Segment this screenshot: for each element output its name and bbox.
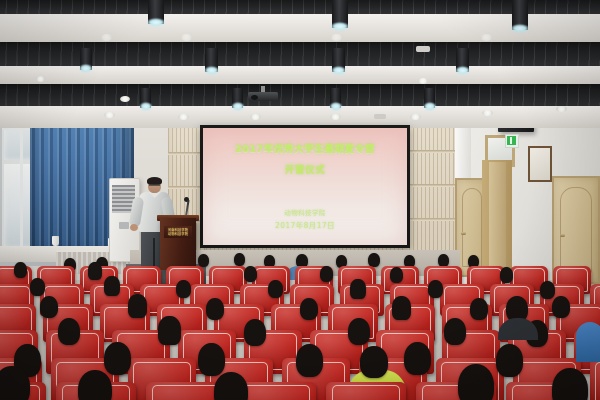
audience-row-1 <box>0 358 600 400</box>
ceiling-spotlight <box>424 88 435 108</box>
recessed-downlight <box>480 34 493 41</box>
recessed-downlight <box>330 34 343 41</box>
audience-member-blue-shirt <box>576 322 600 362</box>
recessed-downlight <box>418 78 428 84</box>
recessed-downlight <box>556 106 567 112</box>
slide-organization: 动物科技学院 <box>203 207 407 217</box>
recessed-downlight <box>482 110 493 116</box>
ceiling-spotlight <box>148 0 164 24</box>
ceiling-spotlight <box>140 88 151 108</box>
auditorium-photo: 2017年优秀大学生暑期夏令营 开营仪式 动物科技学院 2017年8月17日 河… <box>0 0 600 400</box>
ceiling-vent <box>374 114 386 119</box>
audience-head <box>214 372 248 400</box>
recessed-downlight <box>100 34 113 41</box>
audience-head <box>0 366 30 400</box>
ceiling-spotlight <box>512 0 528 30</box>
recessed-downlight <box>104 112 115 118</box>
podium-plaque-line-2: 动物科技学院 <box>168 232 188 236</box>
ceiling-spotlight <box>80 48 92 70</box>
paper-cup <box>52 236 59 246</box>
ac-control-panel[interactable] <box>119 222 129 229</box>
recessed-downlight <box>250 114 261 120</box>
panel-seam <box>405 218 461 221</box>
podium-plaque: 河南科技学院 动物科技学院 <box>164 226 192 238</box>
recessed-downlight <box>410 114 421 120</box>
ceiling-spotlight <box>332 0 348 28</box>
speaker-left-hand <box>130 224 138 231</box>
recessed-downlight <box>330 114 341 120</box>
ceiling-vent <box>416 46 430 52</box>
slide-title-line-1: 2017年优秀大学生暑期夏令营 <box>203 141 407 155</box>
recessed-downlight <box>120 96 130 102</box>
ceiling-bay <box>0 0 600 14</box>
audience-head <box>78 370 112 400</box>
door-knob[interactable] <box>560 234 565 237</box>
slide-title-line-2: 开营仪式 <box>203 162 407 176</box>
audience-head <box>552 368 588 400</box>
slide-date: 2017年8月17日 <box>203 220 407 231</box>
ceiling-spotlight <box>330 88 341 108</box>
exit-sign-icon <box>505 134 519 148</box>
acoustic-panel-right <box>405 118 461 263</box>
ceiling-spotlight <box>456 48 469 72</box>
recessed-downlight <box>178 114 189 120</box>
projector-lens <box>251 95 258 100</box>
door-knob[interactable] <box>461 232 466 235</box>
ceiling-bay <box>0 84 600 106</box>
framed-notice <box>528 146 552 182</box>
speaker-glasses-icon <box>149 184 160 186</box>
panel-seam <box>405 184 461 187</box>
panel-seam <box>405 150 461 153</box>
ceiling-projector <box>248 86 278 102</box>
projection-screen: 2017年优秀大学生暑期夏令营 开营仪式 动物科技学院 2017年8月17日 <box>203 128 407 245</box>
recessed-downlight <box>180 34 193 41</box>
ceiling-spotlight <box>232 88 243 108</box>
ceiling <box>0 0 600 128</box>
ceiling-spotlight <box>332 48 345 72</box>
ceiling-spotlight <box>205 48 218 72</box>
exit-sign-glyph <box>507 136 516 145</box>
projection-screen-frame: 2017年优秀大学生暑期夏令营 开营仪式 动物科技学院 2017年8月17日 <box>200 125 410 248</box>
recessed-downlight <box>36 76 45 82</box>
audience-head <box>458 364 494 400</box>
